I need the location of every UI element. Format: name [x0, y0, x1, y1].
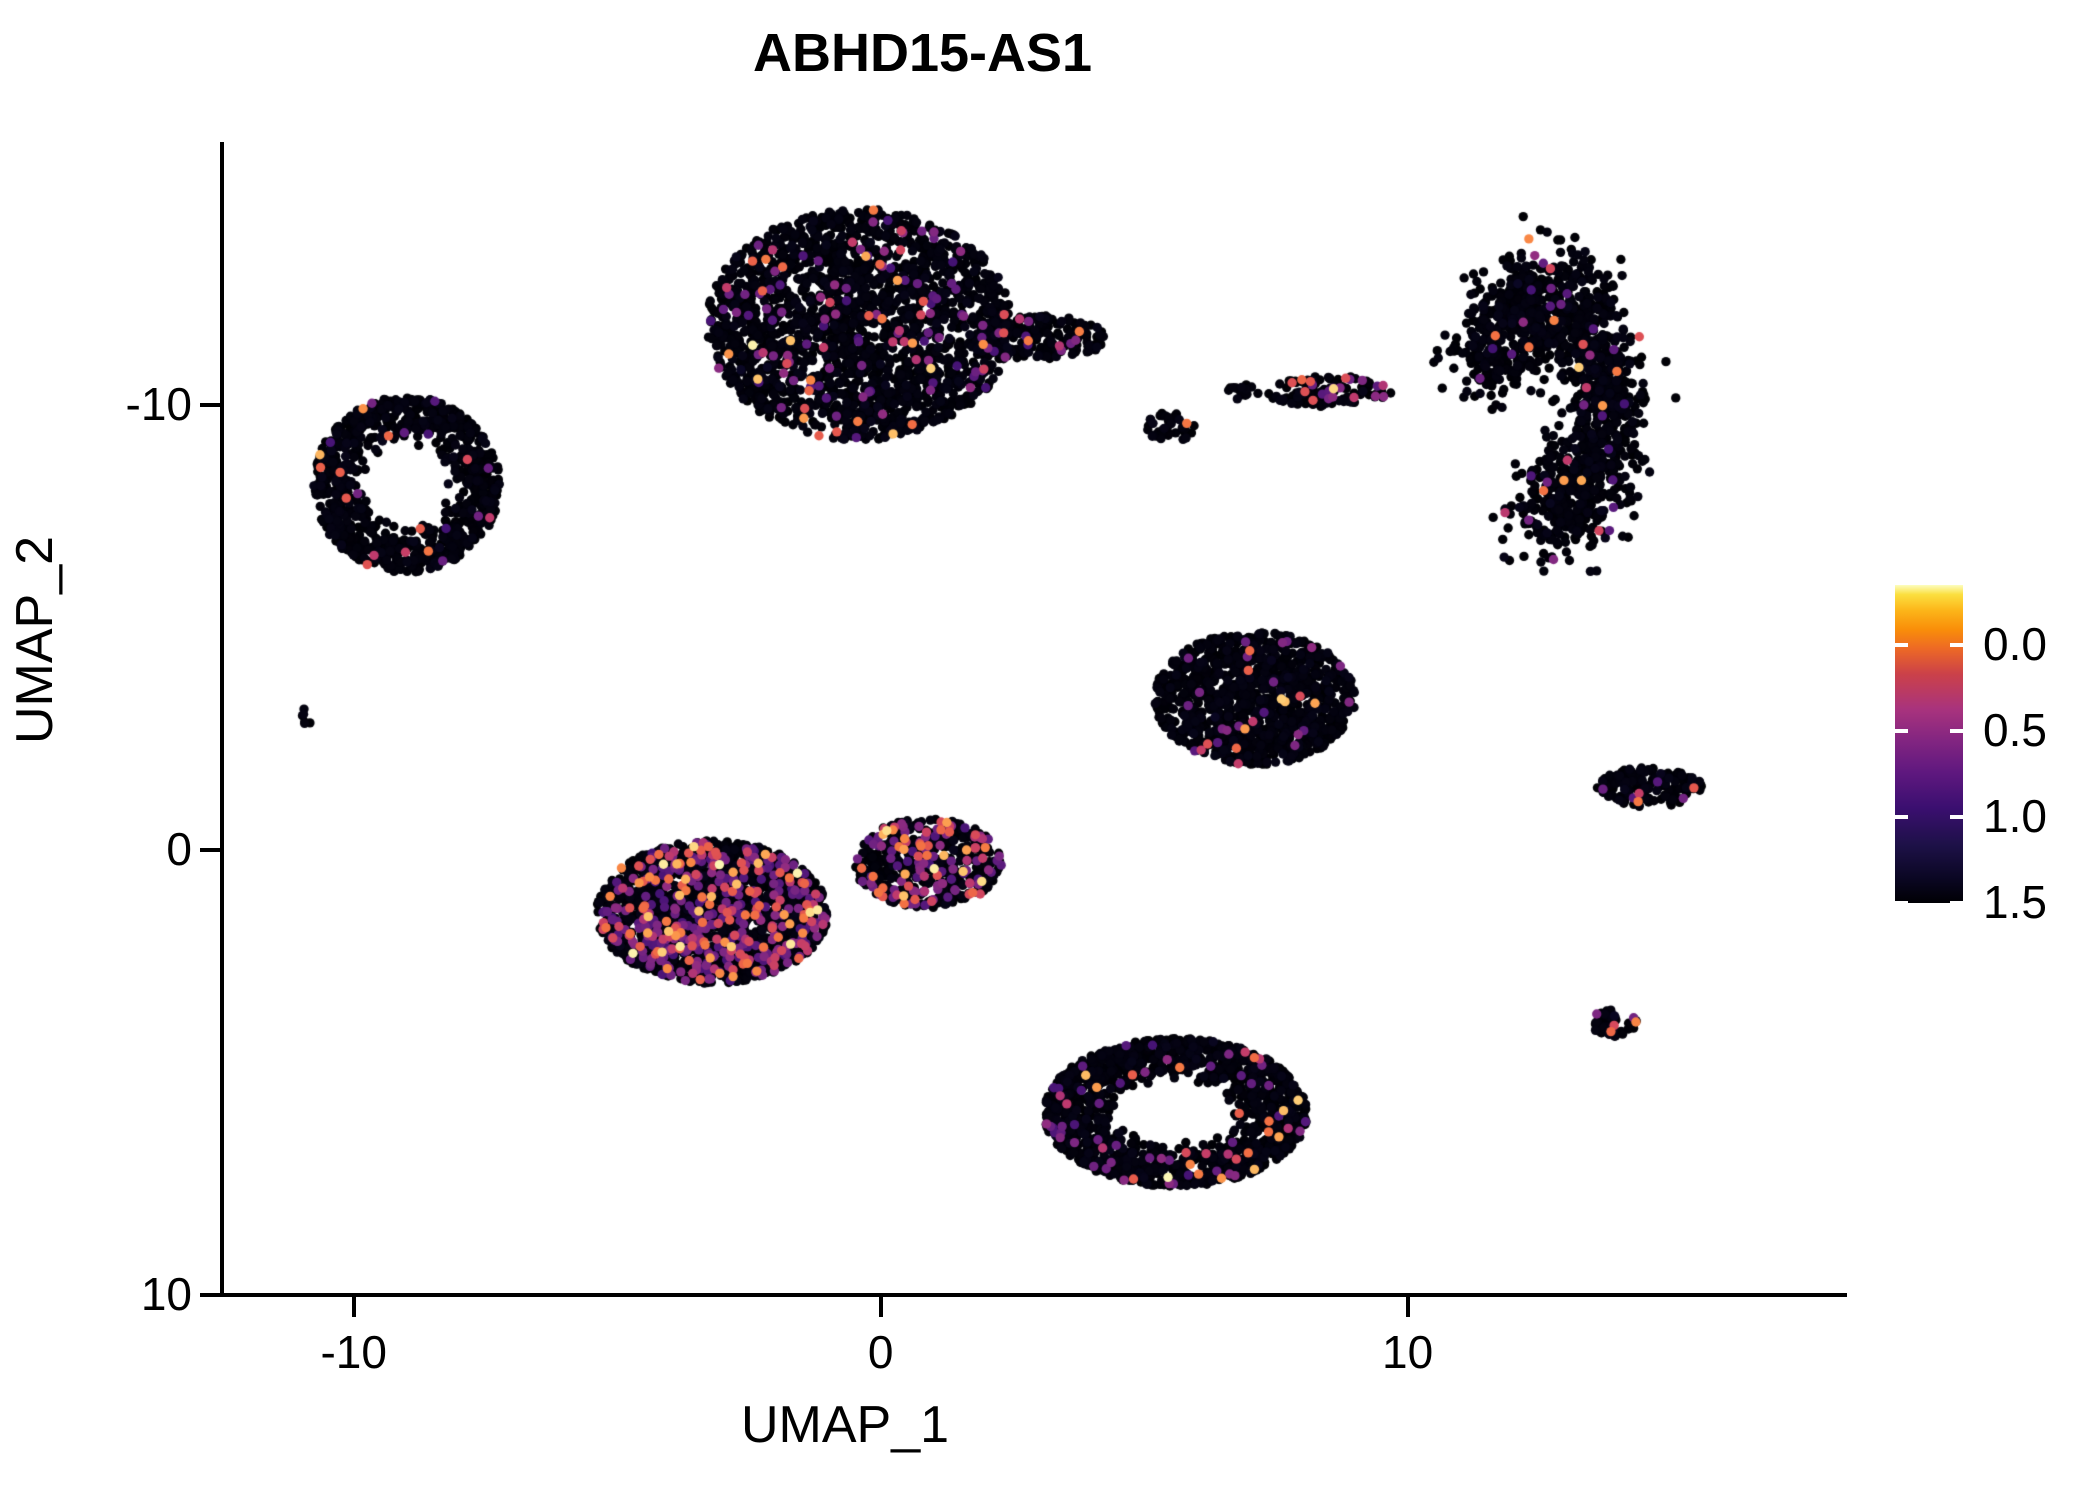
y-axis-line: [220, 142, 224, 1297]
umap-feature-plot: ABHD15-AS1 100-10 -10010 UMAP_2 UMAP_1 1…: [0, 0, 2100, 1500]
colorbar-tick-0: [1895, 901, 1908, 905]
y-tick-10: [200, 403, 220, 407]
colorbar-label-0: 1.5: [1983, 875, 2047, 929]
plot-panel: [222, 142, 1845, 1295]
colorbar-tick-0.5: [1895, 815, 1908, 819]
x-tick-0: [879, 1297, 883, 1317]
scatter-points-canvas: [222, 142, 1845, 1295]
x-axis-line: [220, 1293, 1847, 1297]
x-tick-label-10: 10: [1308, 1325, 1508, 1379]
colorbar-label-0.5: 1.0: [1983, 789, 2047, 843]
y-tick--10: [200, 1293, 220, 1297]
colorbar-label-1.5: 0.0: [1983, 617, 2047, 671]
colorbar-tick-1: [1895, 729, 1908, 733]
x-tick-10: [1406, 1297, 1410, 1317]
y-tick-label--10: 10: [141, 1267, 192, 1321]
colorbar-tick-0.5: [1950, 815, 1963, 819]
y-axis-title: UMAP_2: [5, 390, 65, 890]
y-tick-label-10: -10: [126, 377, 192, 431]
x-tick-label--10: -10: [254, 1325, 454, 1379]
color-legend: 1.51.00.50.0: [1895, 585, 2095, 905]
x-axis-title: UMAP_1: [220, 1395, 1470, 1455]
x-tick-label-0: 0: [781, 1325, 981, 1379]
y-tick-0: [200, 848, 220, 852]
colorbar-gradient: [1895, 585, 1963, 903]
colorbar-tick-0: [1950, 901, 1963, 905]
y-tick-label-0: 0: [166, 822, 192, 876]
colorbar-tick-1: [1950, 729, 1963, 733]
colorbar-tick-1.5: [1895, 643, 1908, 647]
page-title: ABHD15-AS1: [0, 22, 1845, 84]
colorbar-label-1: 0.5: [1983, 703, 2047, 757]
colorbar-tick-1.5: [1950, 643, 1963, 647]
x-tick--10: [352, 1297, 356, 1317]
